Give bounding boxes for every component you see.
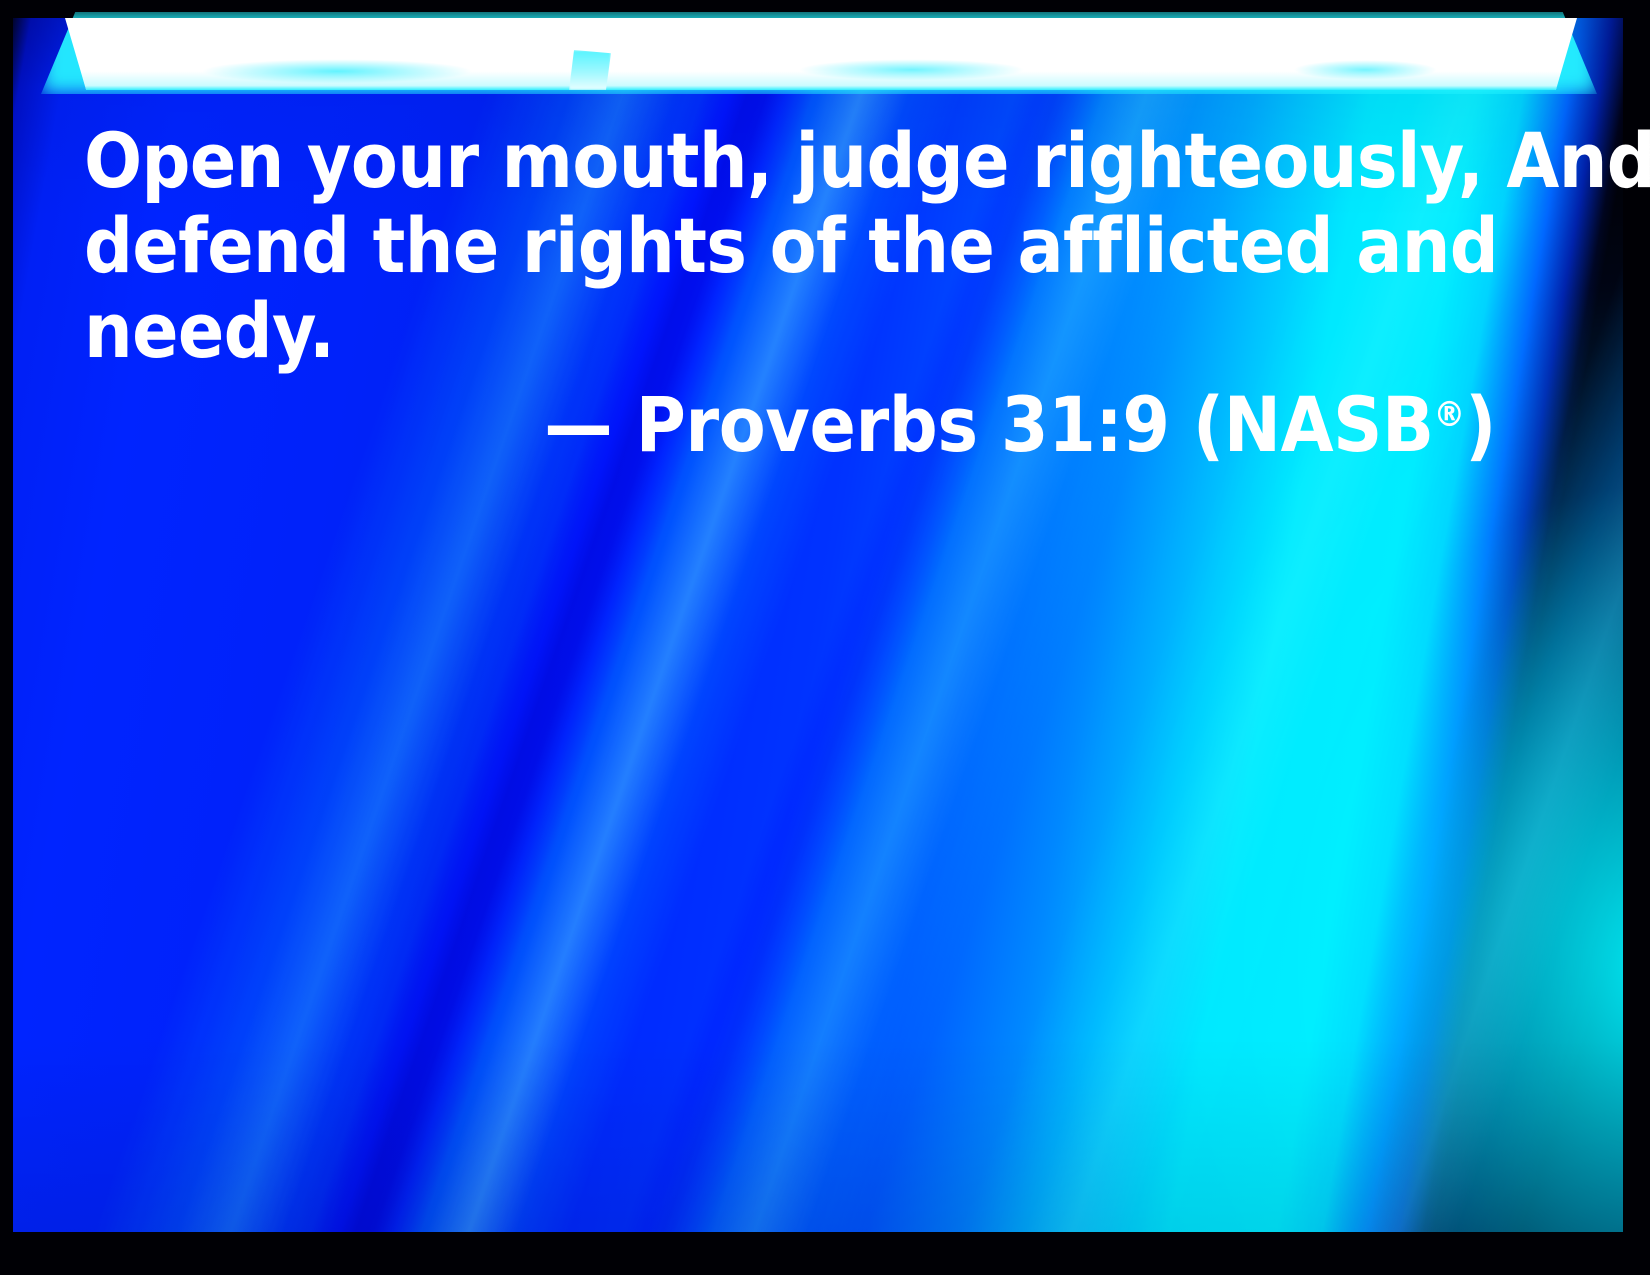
verse-line-1: Open your mouth, judge righteously, And — [84, 118, 1484, 203]
slide-frame: Open your mouth, judge righteously, And … — [0, 0, 1650, 1275]
top-bar-cyan-haze — [65, 18, 1577, 90]
attribution-space-3 — [1170, 380, 1193, 469]
top-bar-cyan-notch — [569, 50, 611, 90]
attribution-book: Proverbs — [636, 380, 978, 469]
verse-line-2: defend the rights of the afflicted and — [84, 203, 1484, 288]
attribution-reference: 31:9 — [1001, 380, 1169, 469]
attribution-space-2 — [978, 380, 1001, 469]
attribution-dash: — — [544, 380, 612, 469]
verse-text-block: Open your mouth, judge righteously, And … — [84, 118, 1484, 373]
attribution-space-1 — [612, 380, 635, 469]
registered-trademark-icon: ® — [1434, 395, 1465, 435]
verse-attribution: — Proverbs 31:9 (NASB®) — [84, 373, 1496, 467]
top-decorative-bar — [13, 12, 1623, 98]
attribution-translation: NASB — [1224, 380, 1434, 469]
attribution-open-paren: ( — [1193, 380, 1224, 469]
attribution-close-paren: ) — [1465, 380, 1496, 469]
verse-line-3: needy. — [84, 288, 1484, 373]
